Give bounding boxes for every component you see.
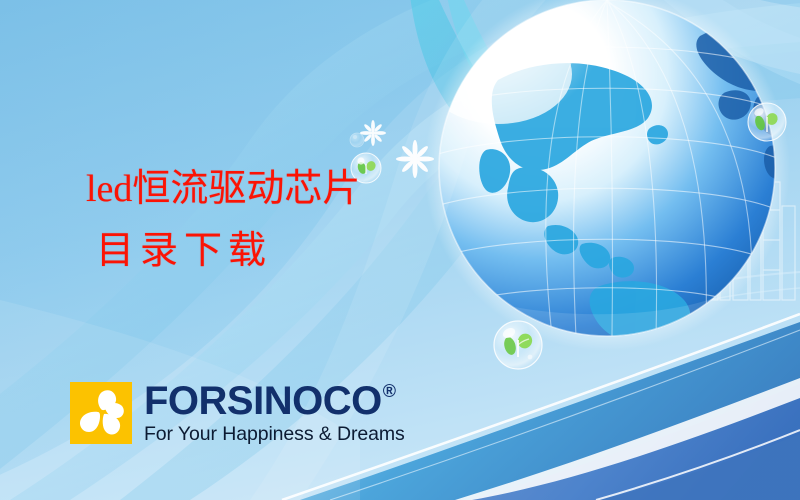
- registered-trademark-icon: ®: [383, 382, 396, 400]
- promo-banner: led恒流驱动芯片 目录下载 FORSINOCO ® For Your Happ…: [0, 0, 800, 500]
- bubble-green-sprout-center: [494, 321, 542, 369]
- bubble-green-sprout-right: [748, 103, 786, 141]
- company-logo[interactable]: FORSINOCO ® For Your Happiness & Dreams: [70, 382, 405, 445]
- brand-name: FORSINOCO: [144, 381, 382, 421]
- brand-tagline: For Your Happiness & Dreams: [144, 423, 405, 445]
- banner-title: led恒流驱动芯片 目录下载: [78, 158, 360, 282]
- logo-wordmark: FORSINOCO ® For Your Happiness & Dreams: [144, 381, 405, 445]
- brand-name-row: FORSINOCO ®: [144, 381, 405, 421]
- pinwheel-petals-icon: [70, 382, 132, 444]
- title-line-2: 目录下载: [78, 220, 360, 282]
- title-line-1: led恒流驱动芯片: [78, 158, 360, 220]
- four-petal-pinwheel-mark: [70, 382, 132, 444]
- bubble-small-faint: [350, 133, 364, 147]
